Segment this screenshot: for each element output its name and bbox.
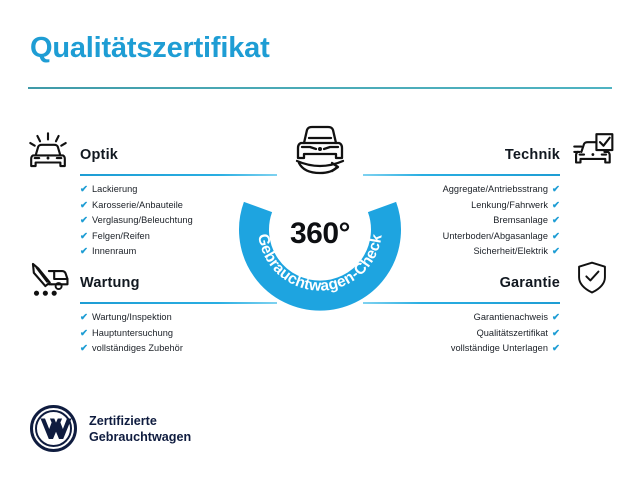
list-item: Qualitätszertifikat✔ xyxy=(363,326,560,342)
list-item: vollständige Unterlagen✔ xyxy=(363,341,560,357)
check-icon: ✔ xyxy=(80,200,88,211)
list-item: ✔Hauptuntersuchung xyxy=(80,326,277,342)
list-item-label: Aggregate/Antriebsstrang xyxy=(443,184,548,194)
check-icon: ✔ xyxy=(552,215,560,226)
check-icon: ✔ xyxy=(80,231,88,242)
section-title: Technik xyxy=(505,147,560,163)
footer-brand: Zertifizierte Gebrauchtwagen xyxy=(30,405,191,452)
shield-check-icon xyxy=(566,259,618,303)
checklist-garantie: Garantienachweis✔ Qualitätszertifikat✔ v… xyxy=(363,310,560,357)
check-icon: ✔ xyxy=(80,215,88,226)
list-item-label: Sicherheit/Elektrik xyxy=(474,246,548,256)
list-item-label: Hauptuntersuchung xyxy=(92,328,173,338)
list-item: ✔vollständiges Zubehör xyxy=(80,341,277,357)
car-checkbox-icon xyxy=(566,131,618,175)
page-title: Qualitätszertifikat xyxy=(30,32,270,65)
check-icon: ✔ xyxy=(80,328,88,339)
vw-logo xyxy=(30,405,77,452)
list-item-label: vollständiges Zubehör xyxy=(92,343,183,353)
list-item-label: Unterboden/Abgasanlage xyxy=(443,231,548,241)
list-item-label: Bremsanlage xyxy=(493,215,548,225)
car-shine-icon xyxy=(22,131,74,175)
section-title: Wartung xyxy=(80,275,140,291)
footer-text: Zertifizierte Gebrauchtwagen xyxy=(89,413,191,445)
car-service-icon xyxy=(22,259,74,303)
footer-line-1: Zertifizierte xyxy=(89,413,191,429)
list-item-label: vollständige Unterlagen xyxy=(451,343,548,353)
list-item-label: Wartung/Inspektion xyxy=(92,312,172,322)
check-icon: ✔ xyxy=(552,312,560,323)
list-item-label: Felgen/Reifen xyxy=(92,231,150,241)
title-divider xyxy=(28,87,612,89)
list-item-label: Karosserie/Anbauteile xyxy=(92,200,183,210)
check-icon: ✔ xyxy=(80,184,88,195)
check-icon: ✔ xyxy=(552,231,560,242)
check-icon: ✔ xyxy=(552,246,560,257)
list-item-label: Qualitätszertifikat xyxy=(477,328,548,338)
gebrauchtwagen-check-badge: Gebrauchtwagen-Check 360° xyxy=(225,119,415,315)
list-item-label: Verglasung/Beleuchtung xyxy=(92,215,193,225)
check-icon: ✔ xyxy=(80,343,88,354)
list-item-label: Lackierung xyxy=(92,184,137,194)
checklist-wartung: ✔Wartung/Inspektion ✔Hauptuntersuchung ✔… xyxy=(80,310,277,357)
footer-line-2: Gebrauchtwagen xyxy=(89,429,191,445)
check-icon: ✔ xyxy=(552,200,560,211)
list-item-label: Garantienachweis xyxy=(474,312,548,322)
check-icon: ✔ xyxy=(552,343,560,354)
check-icon: ✔ xyxy=(552,328,560,339)
badge-value: 360° xyxy=(225,217,415,251)
check-icon: ✔ xyxy=(80,312,88,323)
section-title: Optik xyxy=(80,147,118,163)
list-item-label: Innenraum xyxy=(92,246,136,256)
qualitaetszertifikat-page: Qualitätszertifikat xyxy=(0,0,640,480)
check-icon: ✔ xyxy=(552,184,560,195)
section-title: Garantie xyxy=(500,275,560,291)
check-icon: ✔ xyxy=(80,246,88,257)
list-item-label: Lenkung/Fahrwerk xyxy=(471,200,548,210)
